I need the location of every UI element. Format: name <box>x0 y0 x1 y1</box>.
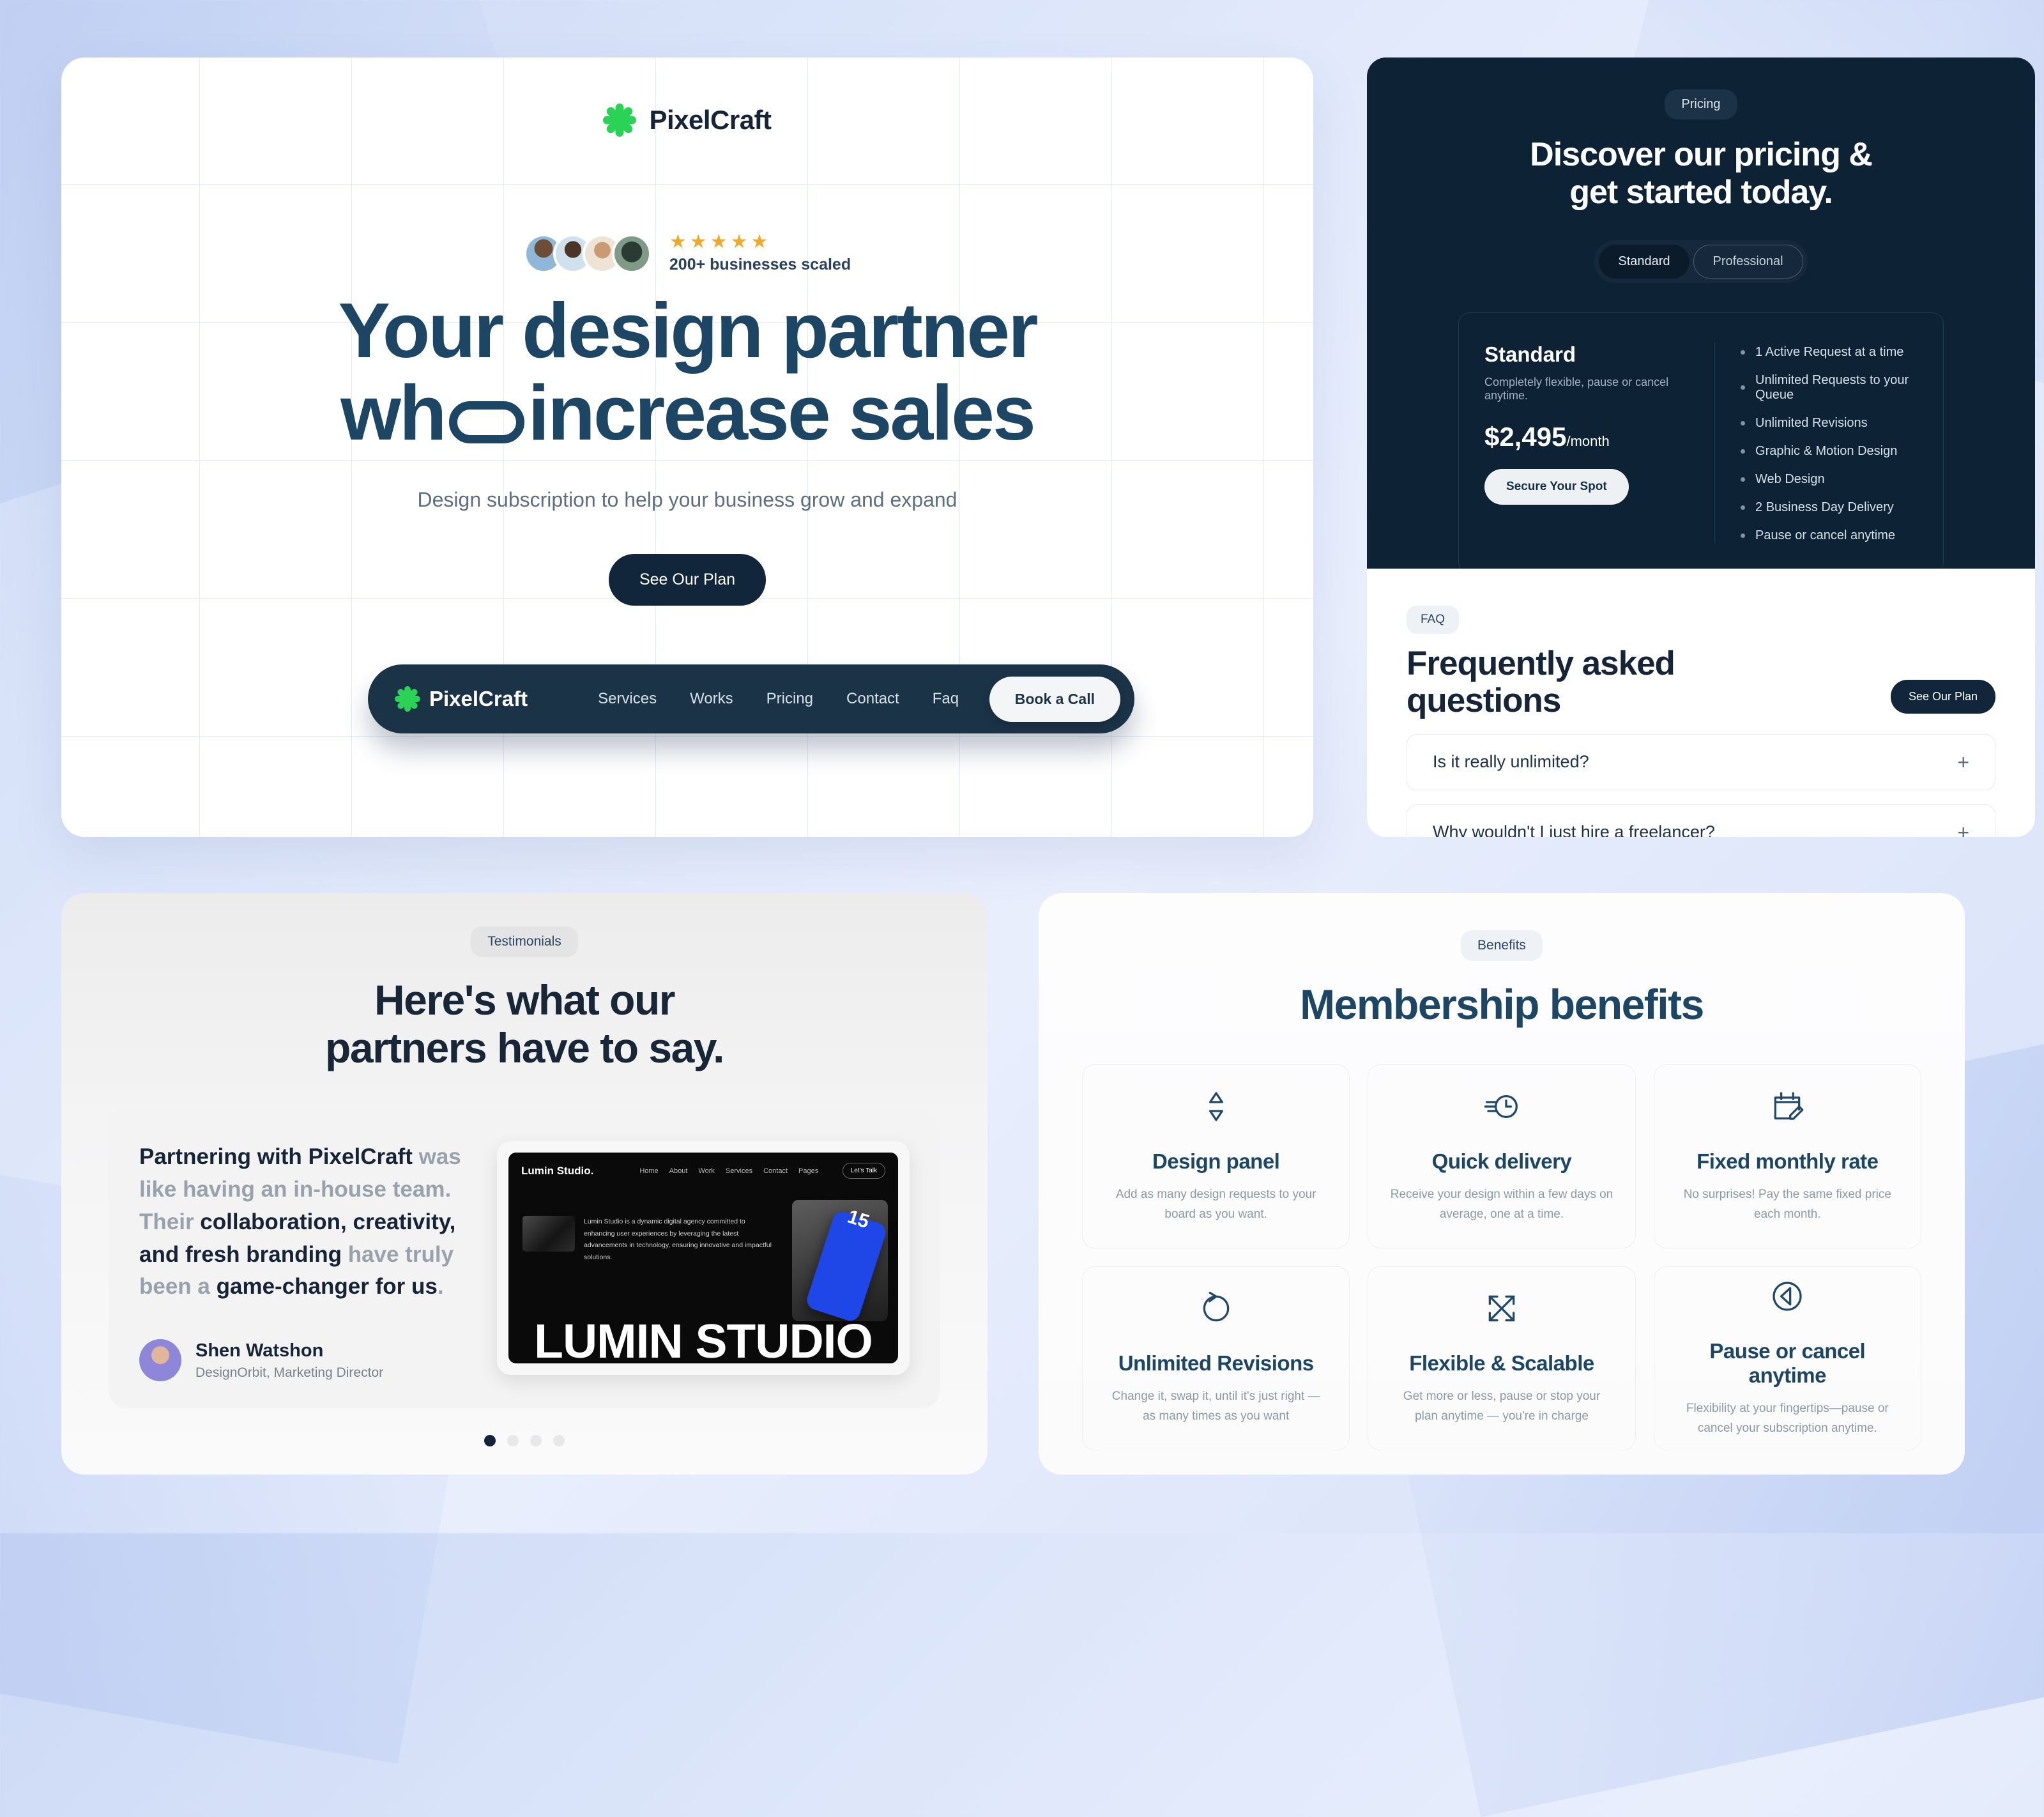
pricing-title-line-2: get started today. <box>1569 174 1833 211</box>
mockup-link: Services <box>726 1167 752 1175</box>
benefit-desc: Get more or less, pause or stop your pla… <box>1390 1387 1613 1426</box>
avatar-group <box>524 234 652 273</box>
mockup-link: Pages <box>798 1167 818 1175</box>
benefit-name: Quick delivery <box>1432 1149 1572 1174</box>
secure-your-spot-button[interactable]: Secure Your Spot <box>1484 469 1629 505</box>
panel-divider <box>1714 342 1715 543</box>
fast-clock-icon <box>1484 1089 1520 1128</box>
benefit-card-unlimited-revisions: Unlimited Revisions Change it, swap it, … <box>1082 1266 1350 1450</box>
navbar-brand-label: PixelCraft <box>429 687 528 711</box>
plan-price: $2,495/month <box>1484 422 1689 452</box>
list-item: 2 Business Day Delivery <box>1741 500 1918 515</box>
quote-strong-1: Partnering with PixelCraft <box>139 1144 413 1169</box>
nav-link-pricing[interactable]: Pricing <box>766 690 813 708</box>
play-back-circle-icon <box>1769 1278 1805 1317</box>
benefit-desc: No surprises! Pay the same fixed price e… <box>1676 1185 1899 1224</box>
calendar-pencil-icon <box>1769 1089 1805 1128</box>
list-item: Unlimited Requests to your Queue <box>1741 373 1918 402</box>
nav-link-contact[interactable]: Contact <box>846 690 899 708</box>
author-role: DesignOrbit, Marketing Director <box>195 1365 383 1381</box>
plan-feature-list: 1 Active Request at a time Unlimited Req… <box>1741 342 1918 543</box>
social-proof: ★ ★ ★ ★ ★ 200+ businesses scaled <box>524 233 851 274</box>
pill-o-glyph <box>449 401 524 443</box>
benefit-desc: Flexibility at your fingertips—pause or … <box>1676 1399 1899 1438</box>
headline-line-1: Your design partner <box>338 287 1036 374</box>
navbar-links: Services Works Pricing Contact Faq <box>598 690 959 708</box>
benefit-desc: Add as many design requests to your boar… <box>1104 1185 1327 1224</box>
list-item: Pause or cancel anytime <box>1741 528 1918 543</box>
proof-count: 200+ businesses scaled <box>669 256 851 274</box>
mockup-wordmark: LUMIN STUDIO <box>508 1319 898 1363</box>
mockup-thumbnail <box>522 1216 575 1252</box>
hero-card: PixelCraft ★ ★ ★ ★ ★ 2 <box>61 57 1313 837</box>
pricing-title: Discover our pricing & get started today… <box>1530 136 1872 212</box>
benefit-card-flexible-scalable: Flexible & Scalable Get more or less, pa… <box>1368 1266 1635 1450</box>
mockup-phone <box>792 1200 888 1321</box>
benefit-name: Pause or cancel anytime <box>1676 1339 1899 1388</box>
carousel-dot-active[interactable] <box>484 1435 496 1446</box>
mockup-links: Home About Work Services Contact Pages <box>639 1167 818 1175</box>
star-icon: ★ <box>669 233 687 252</box>
benefits-card: Benefits Membership benefits Design pane… <box>1039 893 1965 1475</box>
star-icon: ★ <box>751 233 768 252</box>
list-item: Unlimited Revisions <box>1741 416 1918 431</box>
nav-link-faq[interactable]: Faq <box>933 690 959 708</box>
avatar <box>612 234 652 273</box>
benefit-card-pause-or-cancel: Pause or cancel anytime Flexibility at y… <box>1654 1266 1921 1450</box>
page-stage: PixelCraft ★ ★ ★ ★ ★ 2 <box>0 0 2044 1533</box>
author-name: Shen Watshon <box>195 1340 383 1361</box>
hero-brand: PixelCraft <box>603 103 771 137</box>
plan-toggle-standard[interactable]: Standard <box>1599 245 1689 279</box>
list-item: Graphic & Motion Design <box>1741 444 1918 459</box>
mockup-link: About <box>669 1167 688 1175</box>
floating-navbar: PixelCraft Services Works Pricing Contac… <box>368 664 1134 733</box>
benefit-desc: Receive your design within a few days on… <box>1390 1185 1613 1224</box>
benefit-name: Unlimited Revisions <box>1118 1351 1314 1376</box>
headline-line-2-pre: wh <box>340 369 445 456</box>
sort-arrows-icon <box>1198 1089 1234 1128</box>
asterisk-star-icon <box>603 103 636 137</box>
plan-price-period: /month <box>1566 433 1609 449</box>
testimonial-author: Shen Watshon DesignOrbit, Marketing Dire… <box>139 1339 471 1381</box>
benefit-name: Flexible & Scalable <box>1409 1351 1594 1376</box>
testimonial-mockup: Lumin Studio. Home About Work Services C… <box>497 1141 910 1375</box>
asterisk-star-icon <box>395 686 420 712</box>
plus-icon[interactable]: + <box>1957 822 1969 837</box>
mockup-link: Home <box>639 1167 658 1175</box>
mockup-brand: Lumin Studio. <box>521 1165 593 1177</box>
list-item: 1 Active Request at a time <box>1741 345 1918 360</box>
expand-arrows-icon <box>1484 1291 1520 1330</box>
headline-line-2-post: increase sales <box>528 369 1034 456</box>
book-a-call-button[interactable]: Book a Call <box>989 677 1120 722</box>
star-icon: ★ <box>731 233 748 252</box>
faq-title: Frequently asked questions <box>1407 645 1675 720</box>
plan-name: Standard <box>1484 342 1689 367</box>
faq-accordion-item[interactable]: Is it really unlimited? + <box>1407 734 1995 790</box>
faq-see-our-plan-button[interactable]: See Our Plan <box>1891 680 1995 714</box>
testimonial-quote: Partnering with PixelCraft was like havi… <box>139 1141 471 1303</box>
benefit-card-design-panel: Design panel Add as many design requests… <box>1082 1064 1350 1248</box>
undo-arrow-icon <box>1198 1291 1234 1330</box>
benefit-name: Fixed monthly rate <box>1697 1149 1878 1174</box>
nav-link-works[interactable]: Works <box>690 690 733 708</box>
pricing-badge: Pricing <box>1665 89 1737 119</box>
carousel-dot[interactable] <box>530 1435 542 1446</box>
quote-regular-3: . <box>438 1274 444 1299</box>
navbar-brand[interactable]: PixelCraft <box>395 686 528 712</box>
faq-accordion-item[interactable]: Why wouldn't I just hire a freelancer? + <box>1407 804 1995 837</box>
carousel-dots <box>61 1435 988 1446</box>
quote-strong-3: game-changer for us <box>217 1274 438 1299</box>
hero-headline: Your design partner whincrease sales <box>338 289 1036 455</box>
testimonials-title-line-2: partners have to say. <box>325 1024 724 1071</box>
carousel-dot[interactable] <box>507 1435 519 1446</box>
mockup-link: Contact <box>763 1167 788 1175</box>
benefits-title: Membership benefits <box>1300 980 1704 1029</box>
star-rating: ★ ★ ★ ★ ★ <box>669 233 851 252</box>
plan-toggle: Standard Professional <box>1594 240 1807 283</box>
plan-description: Completely flexible, pause or cancel any… <box>1484 376 1689 402</box>
carousel-dot[interactable] <box>553 1435 565 1446</box>
benefit-desc: Change it, swap it, until it's just righ… <box>1104 1387 1327 1426</box>
price-panel: Standard Completely flexible, pause or c… <box>1458 312 1944 569</box>
list-item: Web Design <box>1741 472 1918 487</box>
benefits-grid: Design panel Add as many design requests… <box>1082 1064 1921 1450</box>
faq-badge: FAQ <box>1407 606 1459 634</box>
brand-name: PixelCraft <box>649 105 771 135</box>
mockup-link: Work <box>698 1167 714 1175</box>
nav-link-services[interactable]: Services <box>598 690 657 708</box>
mockup-paragraph: Lumin Studio is a dynamic digital agency… <box>584 1216 775 1263</box>
testimonials-title: Here's what our partners have to say. <box>325 976 724 1072</box>
mockup-cta: Let's Talk <box>843 1163 885 1179</box>
plan-toggle-professional[interactable]: Professional <box>1693 245 1803 279</box>
benefit-name: Design panel <box>1152 1149 1279 1174</box>
testimonials-badge: Testimonials <box>471 926 578 957</box>
benefit-card-quick-delivery: Quick delivery Receive your design withi… <box>1368 1064 1635 1248</box>
testimonials-title-line-1: Here's what our <box>374 976 675 1023</box>
faq-question: Is it really unlimited? <box>1433 752 1589 772</box>
faq-title-line-1: Frequently asked <box>1407 645 1675 682</box>
benefit-card-fixed-monthly-rate: Fixed monthly rate No surprises! Pay the… <box>1654 1064 1921 1248</box>
star-icon: ★ <box>690 233 707 252</box>
faq-question: Why wouldn't I just hire a freelancer? <box>1433 822 1715 837</box>
faq-title-line-2: questions <box>1407 682 1560 719</box>
pricing-card: Pricing Discover our pricing & get start… <box>1367 57 2035 569</box>
benefits-badge: Benefits <box>1461 930 1543 961</box>
faq-card: FAQ Frequently asked questions See Our P… <box>1367 569 2035 837</box>
pricing-title-line-1: Discover our pricing & <box>1530 136 1872 173</box>
plus-icon[interactable]: + <box>1957 752 1969 772</box>
see-our-plan-button[interactable]: See Our Plan <box>609 554 766 606</box>
hero-subhead: Design subscription to help your busines… <box>418 488 957 512</box>
testimonials-card: Testimonials Here's what our partners ha… <box>61 893 988 1475</box>
avatar <box>139 1339 181 1381</box>
star-icon: ★ <box>710 233 728 252</box>
plan-price-value: $2,495 <box>1484 422 1566 452</box>
